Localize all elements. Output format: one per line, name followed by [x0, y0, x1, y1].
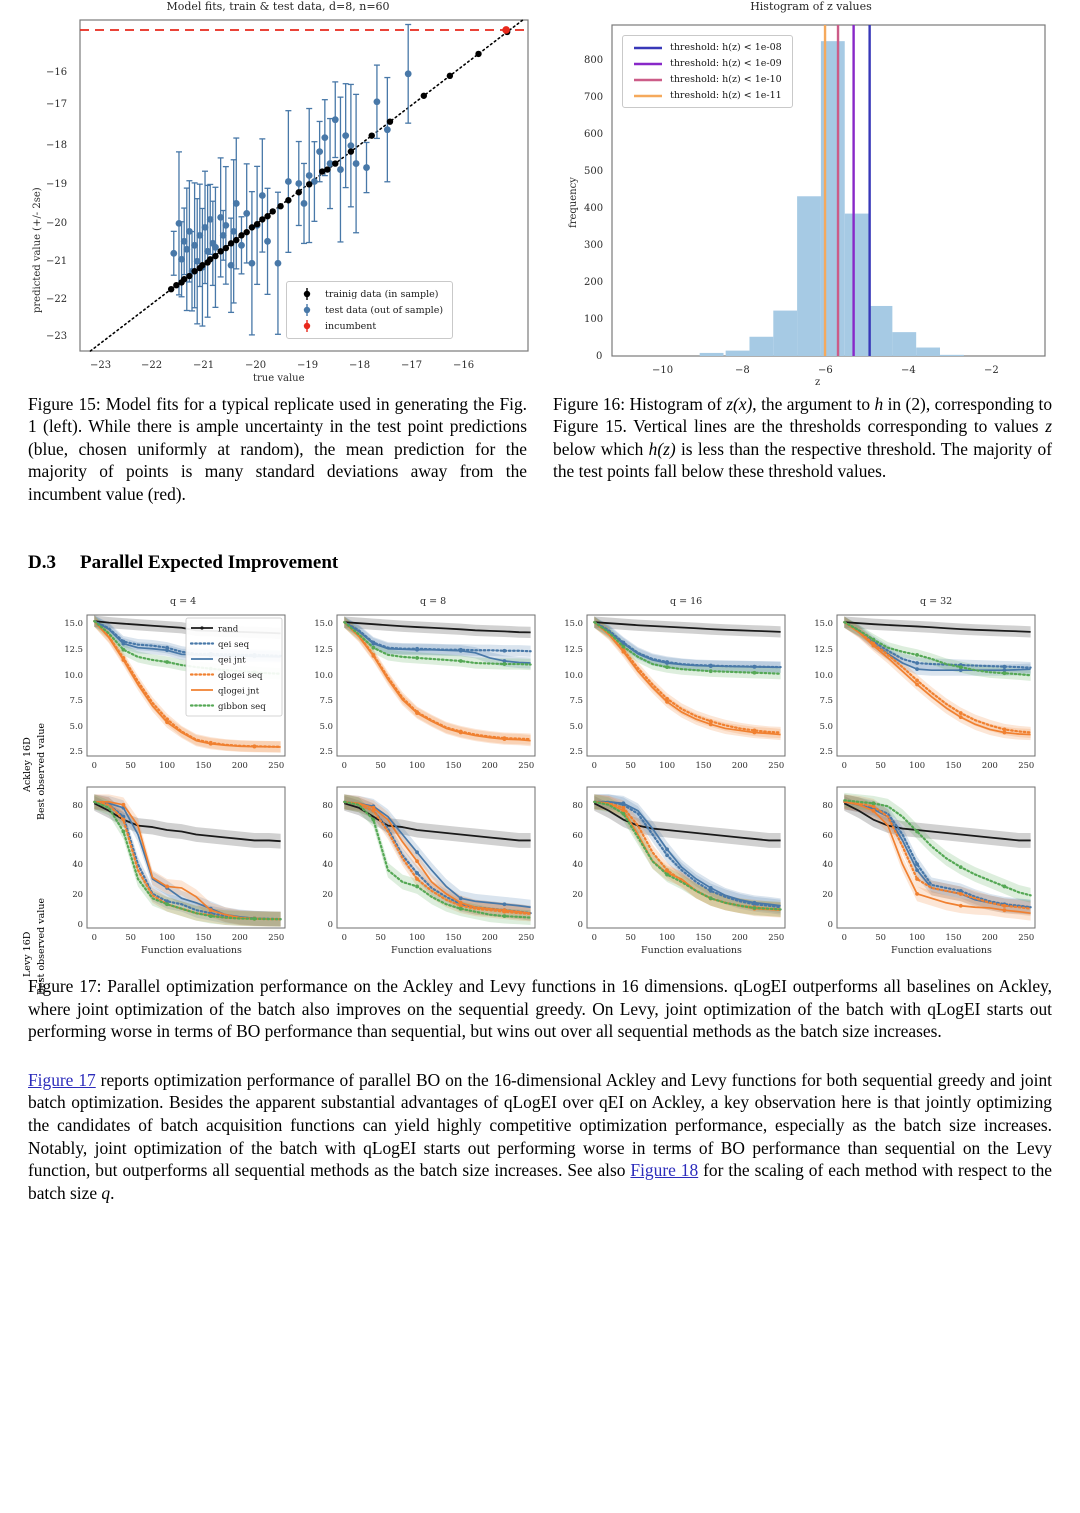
panel-ytick: 12.5: [813, 644, 833, 654]
panel-title: q = 32: [920, 596, 952, 607]
figure-16-xlabel: z: [815, 377, 820, 388]
panel-xtick: 100: [409, 760, 425, 770]
panel-xtick: 0: [336, 760, 352, 770]
svg-text:rand: rand: [218, 625, 239, 635]
ytick: 500: [584, 166, 603, 177]
panel-xtick: 100: [409, 932, 425, 942]
figure-17: Ackley 16D Best observed value Levy 16D …: [0, 592, 1080, 967]
panel-xtick: 150: [945, 932, 961, 942]
figure-16-title: Histogram of z values: [560, 0, 1062, 13]
panel-ytick: 20: [313, 889, 333, 899]
panel-xtick: 150: [195, 760, 211, 770]
ytick: 100: [584, 314, 603, 325]
panel-xtick: 150: [695, 932, 711, 942]
ytick: 600: [584, 129, 603, 140]
legend-item: trainig data (in sample): [296, 288, 443, 300]
xtick: −23: [90, 360, 111, 371]
xtick: −6: [818, 365, 833, 376]
figure-15: Model fits, train & test data, d=8, n=60…: [18, 0, 538, 383]
panel-xtick: 200: [482, 760, 498, 770]
panel-ytick: 2.5: [813, 746, 833, 756]
ytick: 0: [596, 351, 602, 362]
panel-xtick: 50: [373, 760, 389, 770]
panel-xtick: 250: [768, 932, 784, 942]
panel-ytick: 12.5: [313, 644, 333, 654]
svg-text:qei jnt: qei jnt: [218, 656, 246, 666]
panel-xtick: 50: [123, 760, 139, 770]
panel-xtick: 0: [86, 760, 102, 770]
panel-ytick: 80: [63, 800, 83, 810]
paper-page: Model fits, train & test data, d=8, n=60…: [0, 0, 1080, 1513]
figure-17-caption: Figure 17: Parallel optimization perform…: [28, 975, 1052, 1042]
panel-xtick: 50: [873, 760, 889, 770]
legend-label: trainig data (in sample): [325, 289, 438, 300]
svg-text:gibbon seq: gibbon seq: [218, 702, 266, 712]
panel-ytick: 40: [63, 859, 83, 869]
legend-label: threshold: h(z) < 1e-09: [670, 58, 782, 69]
section-number: D.3: [28, 552, 80, 574]
svg-text:qei seq: qei seq: [218, 640, 250, 650]
panel-ytick: 12.5: [63, 644, 83, 654]
panel-ytick: 10.0: [813, 670, 833, 680]
panel-xtick: 250: [518, 932, 534, 942]
panel-xtick: 200: [232, 932, 248, 942]
panel-title: q = 8: [420, 596, 446, 607]
ytick: 300: [584, 240, 603, 251]
panel-xtick: 250: [768, 760, 784, 770]
top-figures-row: Model fits, train & test data, d=8, n=60…: [0, 0, 1080, 383]
panel-xtick: 250: [518, 760, 534, 770]
ytick: −19: [46, 179, 67, 190]
xtick: −19: [297, 360, 318, 371]
xtick: −2: [984, 365, 999, 376]
panel-xtick: 250: [1018, 760, 1034, 770]
figure-17-panel: [586, 614, 786, 757]
figure-17-row1-ylabel-b: Best observed value: [36, 723, 47, 820]
panel-xtick: 150: [445, 932, 461, 942]
figure-17-panel: [836, 614, 1036, 757]
panel-ytick: 5.0: [313, 721, 333, 731]
ytick: 400: [584, 203, 603, 214]
legend-label: test data (out of sample): [325, 305, 443, 316]
figure-17-row2-ylabel-b: Best observed value: [36, 898, 47, 995]
legend-item: incumbent: [296, 320, 443, 332]
xtick: −22: [141, 360, 162, 371]
panel-ytick: 2.5: [63, 746, 83, 756]
panel-ytick: 10.0: [313, 670, 333, 680]
legend-label: incumbent: [325, 321, 376, 332]
figure-17-panel: [336, 786, 536, 929]
figure-16: Histogram of z values frequency 800 700 …: [560, 0, 1062, 383]
section-heading: D.3Parallel Expected Improvement: [0, 552, 1080, 574]
panel-ytick: 40: [313, 859, 333, 869]
panel-xtick: 100: [659, 932, 675, 942]
legend-line-icon: [633, 91, 663, 101]
panel-ytick: 80: [313, 800, 333, 810]
captions-row: Figure 15: Model fits for a typical repl…: [0, 393, 1080, 505]
panel-xtick: 150: [945, 760, 961, 770]
legend-item: threshold: h(z) < 1e-11: [633, 90, 782, 101]
body-text: .: [110, 1183, 114, 1203]
panel-xlabel: Function evaluations: [391, 945, 492, 956]
panel-ytick: 0: [563, 919, 583, 929]
math-h: h: [874, 394, 883, 414]
panel-xtick: 100: [909, 932, 925, 942]
panel-xtick: 0: [836, 932, 852, 942]
xtick: −20: [245, 360, 266, 371]
figure-17-panel: [336, 614, 536, 757]
figure-15-title: Model fits, train & test data, d=8, n=60: [18, 0, 538, 13]
panel-ytick: 5.0: [813, 721, 833, 731]
ytick: −18: [46, 140, 67, 151]
panel-ytick: 5.0: [563, 721, 583, 731]
panel-ytick: 80: [813, 800, 833, 810]
panel-xtick: 50: [373, 932, 389, 942]
figure-18-link[interactable]: Figure 18: [630, 1160, 698, 1180]
figure-17-panel: [836, 786, 1036, 929]
panel-xtick: 200: [732, 932, 748, 942]
panel-xtick: 50: [123, 932, 139, 942]
figure-17-row1-ylabel-a: Ackley 16D: [22, 738, 33, 793]
figure-17-panel: [586, 786, 786, 929]
ytick: −17: [46, 99, 67, 110]
xtick: −4: [901, 365, 916, 376]
panel-xtick: 50: [873, 932, 889, 942]
legend-marker-icon: [296, 304, 318, 316]
figure-15-legend: trainig data (in sample)test data (out o…: [286, 281, 453, 339]
panel-ytick: 2.5: [563, 746, 583, 756]
legend-item: threshold: h(z) < 1e-08: [633, 42, 782, 53]
panel-ytick: 0: [63, 919, 83, 929]
xtick: −21: [193, 360, 214, 371]
panel-ytick: 40: [563, 859, 583, 869]
panel-ytick: 40: [813, 859, 833, 869]
panel-xlabel: Function evaluations: [141, 945, 242, 956]
legend-item: threshold: h(z) < 1e-09: [633, 58, 782, 69]
panel-ytick: 60: [63, 830, 83, 840]
panel-xtick: 0: [836, 760, 852, 770]
panel-xtick: 100: [159, 760, 175, 770]
panel-ytick: 15.0: [313, 618, 333, 628]
math-zx: z(x): [726, 394, 752, 414]
figure-17-row2-ylabel-a: Levy 16D: [22, 932, 33, 977]
panel-ytick: 15.0: [563, 618, 583, 628]
panel-ytick: 20: [563, 889, 583, 899]
xtick: −18: [349, 360, 370, 371]
svg-text:qlogei seq: qlogei seq: [218, 671, 263, 681]
ytick: 700: [584, 92, 603, 103]
panel-xtick: 100: [159, 932, 175, 942]
panel-ytick: 12.5: [563, 644, 583, 654]
legend-marker-icon: [296, 288, 318, 300]
panel-ytick: 60: [313, 830, 333, 840]
panel-xtick: 0: [586, 760, 602, 770]
xtick: −8: [735, 365, 750, 376]
panel-xtick: 100: [909, 760, 925, 770]
panel-ytick: 15.0: [63, 618, 83, 628]
svg-text:qlogei jnt: qlogei jnt: [218, 687, 260, 697]
panel-ytick: 7.5: [63, 695, 83, 705]
panel-xtick: 200: [982, 932, 998, 942]
math-q: q: [101, 1183, 110, 1203]
panel-xtick: 250: [268, 932, 284, 942]
figure-16-ylabel: frequency: [568, 177, 579, 228]
panel-title: q = 4: [170, 596, 196, 607]
body-paragraph: Figure 17 reports optimization performan…: [0, 1069, 1080, 1205]
figure-17-link[interactable]: Figure 17: [28, 1070, 96, 1090]
panel-xtick: 0: [586, 932, 602, 942]
ytick: 800: [584, 55, 603, 66]
panel-ytick: 20: [813, 889, 833, 899]
panel-xlabel: Function evaluations: [891, 945, 992, 956]
panel-xtick: 150: [695, 760, 711, 770]
caption-text: below which: [553, 439, 649, 459]
panel-ytick: 7.5: [813, 695, 833, 705]
panel-xtick: 150: [445, 760, 461, 770]
ytick: −16: [46, 67, 67, 78]
legend-label: threshold: h(z) < 1e-08: [670, 42, 782, 53]
panel-ytick: 2.5: [313, 746, 333, 756]
section-title: Parallel Expected Improvement: [80, 552, 338, 573]
panel-xtick: 100: [659, 760, 675, 770]
panel-ytick: 0: [813, 919, 833, 929]
panel-xlabel: Function evaluations: [641, 945, 742, 956]
panel-xtick: 50: [623, 760, 639, 770]
panel-xtick: 0: [86, 932, 102, 942]
ytick: −23: [46, 331, 67, 342]
panel-ytick: 0: [313, 919, 333, 929]
figure-16-caption: Figure 16: Histogram of z(x), the argume…: [553, 393, 1052, 505]
panel-title: q = 16: [670, 596, 702, 607]
panel-xtick: 200: [732, 760, 748, 770]
ytick: −20: [46, 218, 67, 229]
panel-xtick: 250: [1018, 932, 1034, 942]
panel-ytick: 20: [63, 889, 83, 899]
panel-ytick: 7.5: [313, 695, 333, 705]
panel-xtick: 200: [982, 760, 998, 770]
math-z: z: [1045, 416, 1052, 436]
panel-xtick: 150: [195, 932, 211, 942]
panel-ytick: 15.0: [813, 618, 833, 628]
math-hz: h(z): [649, 439, 676, 459]
legend-item: test data (out of sample): [296, 304, 443, 316]
legend-label: threshold: h(z) < 1e-10: [670, 74, 782, 85]
panel-xtick: 50: [623, 932, 639, 942]
panel-ytick: 5.0: [63, 721, 83, 731]
panel-xtick: 200: [482, 932, 498, 942]
figure-15-xlabel: true value: [253, 373, 305, 384]
legend-line-icon: [633, 75, 663, 85]
xtick: −10: [652, 365, 673, 376]
figure-17-panel: [86, 786, 286, 929]
panel-ytick: 10.0: [563, 670, 583, 680]
figure-15-caption: Figure 15: Model fits for a typical repl…: [28, 393, 527, 505]
xtick: −17: [401, 360, 422, 371]
panel-xtick: 200: [232, 760, 248, 770]
ytick: −21: [46, 256, 67, 267]
figure-16-legend: threshold: h(z) < 1e-08threshold: h(z) <…: [622, 35, 793, 108]
panel-ytick: 80: [563, 800, 583, 810]
xtick: −16: [453, 360, 474, 371]
panel-ytick: 7.5: [563, 695, 583, 705]
figure-17-panel: randqei seqqei jntqlogei seqqlogei jntgi…: [86, 614, 286, 757]
panel-xtick: 0: [336, 932, 352, 942]
panel-xtick: 250: [268, 760, 284, 770]
panel-ytick: 60: [563, 830, 583, 840]
legend-line-icon: [633, 59, 663, 69]
panel-ytick: 60: [813, 830, 833, 840]
caption-text: , the argument to: [752, 394, 874, 414]
ytick: 200: [584, 277, 603, 288]
caption-text: Figure 16: Histogram of: [553, 394, 726, 414]
legend-marker-icon: [296, 320, 318, 332]
panel-ytick: 10.0: [63, 670, 83, 680]
legend-line-icon: [633, 43, 663, 53]
figure-15-ylabel: predicted value (+/- 2se): [32, 187, 43, 313]
legend-label: threshold: h(z) < 1e-11: [670, 90, 782, 101]
legend-item: threshold: h(z) < 1e-10: [633, 74, 782, 85]
ytick: −22: [46, 294, 67, 305]
